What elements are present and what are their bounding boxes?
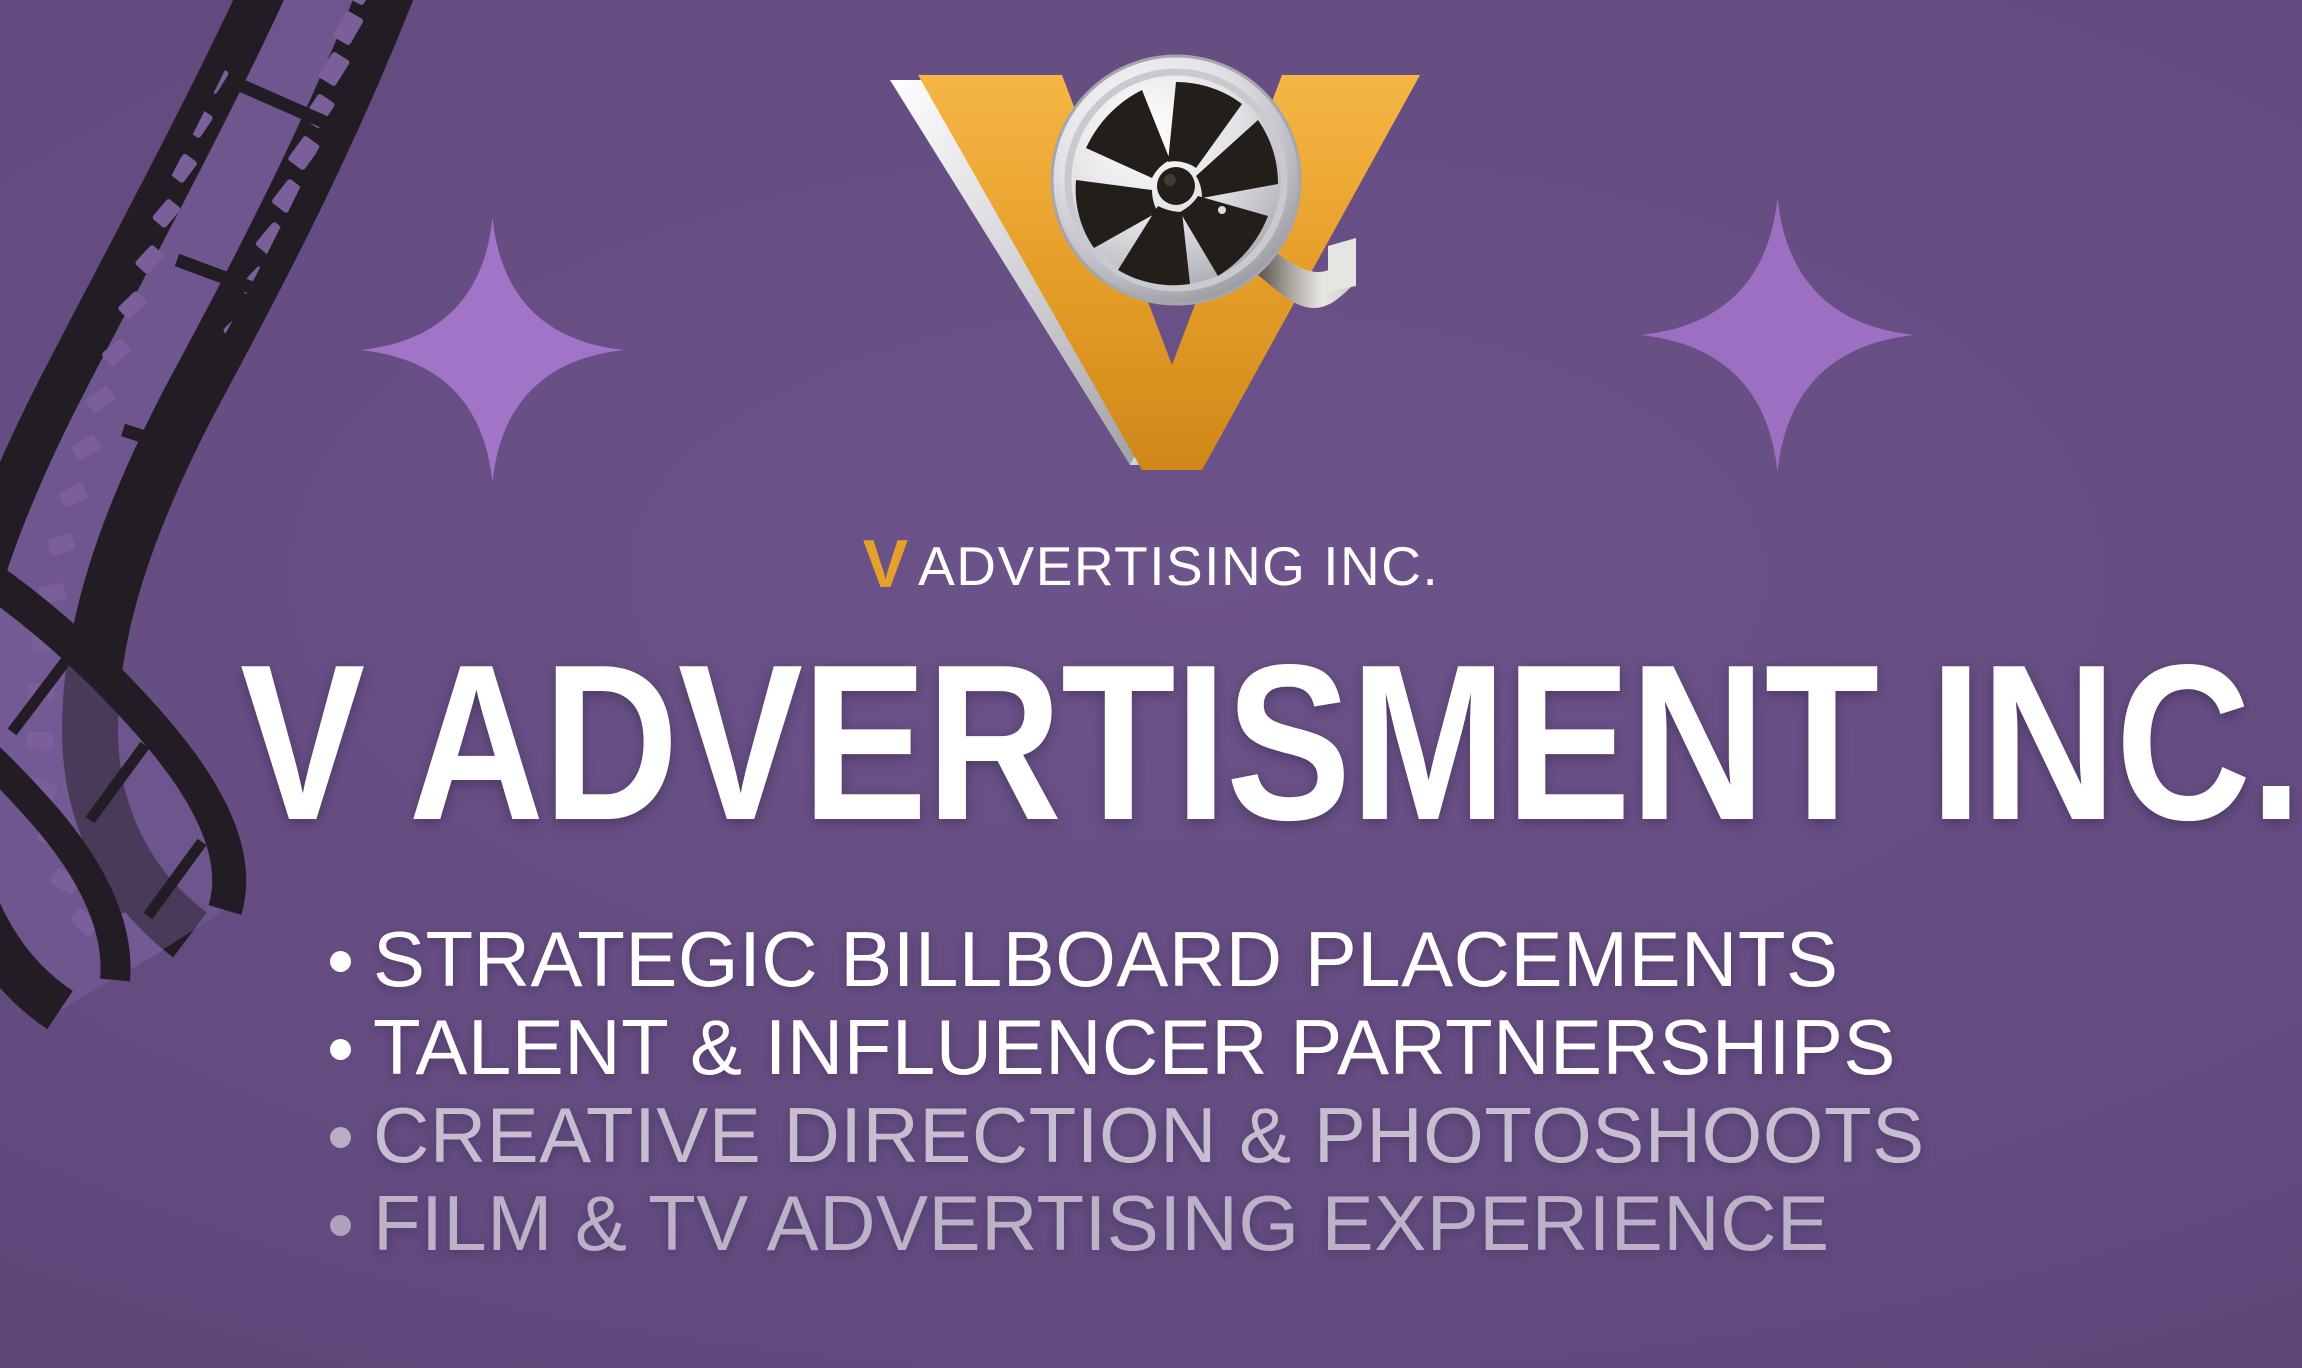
film-reel-icon	[880, 20, 1440, 540]
list-item: CREATIVE DIRECTION & PHOTOSHOOTS	[330, 1091, 2080, 1179]
list-item: STRATEGIC BILLBOARD PLACEMENTS	[330, 915, 2080, 1003]
list-item: TALENT & INFLUENCER PARTNERSHIPS	[330, 1003, 2080, 1091]
bullet-dot-icon	[330, 1039, 351, 1060]
list-item-label: STRATEGIC BILLBOARD PLACEMENTS	[373, 914, 1839, 1005]
wordmark-v-mark: V	[863, 526, 908, 602]
sparkle-right-icon	[1640, 195, 1915, 475]
list-item: FILM & TV ADVERTISING EXPERIENCE	[330, 1179, 2080, 1267]
wordmark-text: ADVERTISING INC.	[918, 535, 1439, 597]
list-item-label: FILM & TV ADVERTISING EXPERIENCE	[373, 1178, 1830, 1269]
bullet-dot-icon	[330, 1215, 351, 1236]
bullet-dot-icon	[330, 1127, 351, 1148]
slide-canvas: VADVERTISING INC. V ADVERTISMENT INC. ST…	[0, 0, 2302, 1368]
sparkle-left-icon	[360, 215, 625, 485]
feature-list: STRATEGIC BILLBOARD PLACEMENTS TALENT & …	[330, 915, 2080, 1267]
list-item-label: TALENT & INFLUENCER PARTNERSHIPS	[373, 1002, 1896, 1093]
brand-logo	[880, 20, 1440, 540]
logo-wordmark: VADVERTISING INC.	[0, 525, 2302, 603]
list-item-label: CREATIVE DIRECTION & PHOTOSHOOTS	[373, 1090, 1925, 1181]
page-title: V ADVERTISMENT INC.	[240, 636, 1846, 851]
bullet-dot-icon	[330, 951, 351, 972]
